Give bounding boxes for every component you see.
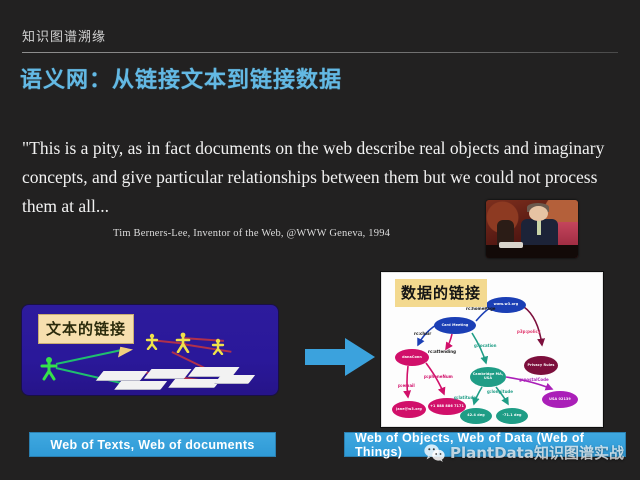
caption-web-of-data: Web of Objects, Web of Data (Web of Thin… [345, 433, 625, 456]
text-link-label: 文本的链接 [38, 314, 134, 344]
document-sheet [215, 375, 255, 383]
graph-node: jane@w3.org [392, 401, 426, 418]
page-title: 语义网：从链接文本到链接数据 [20, 62, 342, 94]
stick-figure-green [38, 355, 60, 381]
graph-node: USA 02139 [542, 391, 578, 408]
arrow-head [345, 338, 375, 376]
graph-edge-label: g:postalCode [519, 377, 549, 382]
graph-node: Cambridge MA, USA [470, 367, 506, 387]
photo-face [529, 206, 547, 221]
data-link-label: 数据的链接 [395, 279, 487, 307]
photo-tie [537, 220, 542, 235]
document-sheet [144, 369, 191, 378]
graph-edge-label: p3p:policy [517, 329, 540, 334]
stick-figure-yellow [174, 331, 192, 353]
graph-edge-label: rc:attending [428, 349, 456, 354]
transition-arrow-icon [305, 338, 375, 376]
graph-node: -71.1 deg [496, 408, 528, 424]
graph-edge-label: p:phoneNum [424, 374, 453, 379]
link-line [56, 348, 127, 364]
quote-attribution: Tim Berners-Lee, Inventor of the Web, @W… [113, 228, 390, 239]
stick-figure-yellow [210, 337, 226, 355]
graph-edge-label: g:location [474, 343, 497, 348]
graph-node: Privacy Rules [524, 356, 558, 375]
tim-berners-lee-photo [486, 200, 578, 258]
callout-tail [118, 347, 133, 360]
caption-web-of-texts: Web of Texts, Web of documents [30, 433, 275, 456]
document-sheet [115, 381, 167, 389]
photo-paper [499, 242, 523, 248]
breadcrumb: 知识图谱溯缘 [22, 26, 106, 45]
graph-edge-label: g:latitude [454, 395, 476, 400]
graph-node: Card Meeting [434, 317, 476, 334]
graph-node: danaConn [395, 349, 429, 366]
arrow-shaft [305, 349, 347, 365]
slide-canvas: 知识图谱溯缘 语义网：从链接文本到链接数据 "This is a pity, a… [0, 0, 640, 480]
document-sheet [96, 371, 147, 380]
stick-figure-yellow [144, 332, 160, 350]
document-sheet [169, 379, 221, 387]
graph-edge-label: p:email [398, 383, 415, 388]
graph-edge-label: rc:chair [414, 331, 431, 336]
graph-node: 42.4 deg [460, 408, 492, 424]
header-divider [22, 52, 618, 53]
web-of-texts-figure: 文本的链接 [22, 305, 278, 395]
graph-edge-label: g:longitude [487, 389, 513, 394]
web-of-data-figure: www.w3.org Card Meeting Privacy Rules da… [381, 272, 603, 427]
